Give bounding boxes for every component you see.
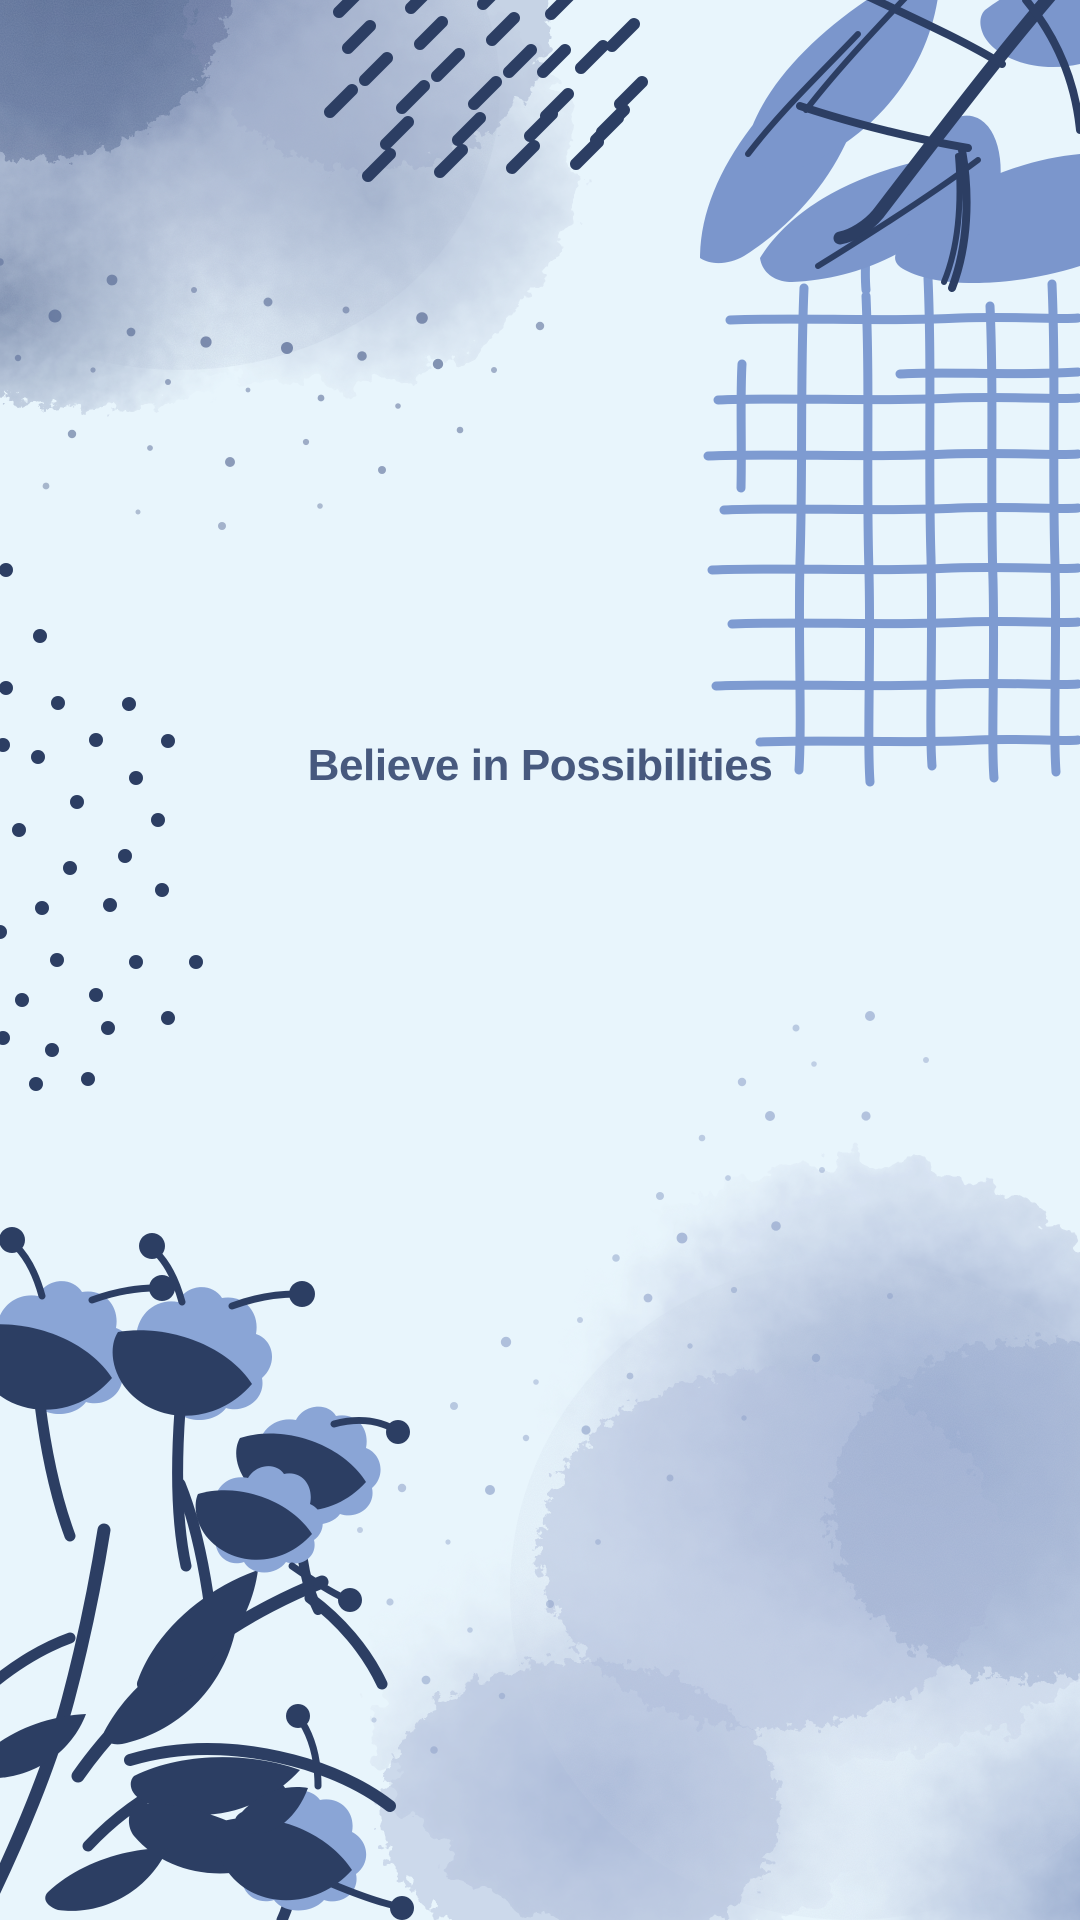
flower-stem [0, 1638, 70, 1700]
dash-icon-group [330, 0, 642, 176]
flower-stem [78, 1582, 322, 1776]
flower-icon [216, 1704, 414, 1920]
branch-stem [800, 106, 968, 148]
leaf-icon [137, 1570, 258, 1692]
leaf-icon [980, 0, 1080, 67]
leaf-icon [104, 1628, 236, 1744]
leaf-icon [131, 1757, 300, 1815]
flower-leaf-group [0, 1570, 300, 1911]
leaf-icon [0, 1714, 86, 1778]
flower-stem [130, 1749, 390, 1806]
leaf-icon [760, 150, 990, 282]
leaf-icon [700, 18, 868, 263]
branch-stem [840, 0, 1080, 238]
page-title: Believe in Possibilities [308, 742, 773, 790]
branch-stem [842, 0, 1002, 64]
flower-stem [310, 1598, 382, 1684]
leaf-icon-group [700, 0, 1080, 288]
flower-icon [0, 1227, 175, 1536]
leaf-vein [806, 0, 928, 110]
leaf-vein [944, 156, 959, 282]
headline-container: Believe in Possibilities [0, 742, 1080, 790]
leaf-branch-decoration [0, 0, 1080, 1920]
watercolor-splash-top-left [0, 0, 670, 600]
diagonal-dash-pattern [0, 0, 1080, 1920]
flower-icon [236, 1407, 410, 1610]
leaf-vein [748, 34, 858, 154]
dot-icon-group [0, 563, 203, 1091]
leaf-vein [818, 160, 978, 266]
dot-lattice-pattern [0, 0, 1080, 1920]
watercolor-speckles [357, 1011, 929, 1754]
branch-stem [1026, 0, 1080, 130]
grid-icon-group [708, 238, 1078, 782]
watercolor-splash-bottom-right [330, 990, 1080, 1920]
flower-icon [196, 1466, 362, 1612]
branch-stem [952, 150, 967, 288]
flower-stem [0, 1530, 104, 1920]
watercolor-speckles [0, 226, 544, 530]
leaf-icon [892, 106, 1015, 279]
leaf-icon [45, 1848, 168, 1911]
leaf-icon [745, 0, 940, 171]
leaf-icon [895, 154, 1080, 283]
flower-stem [88, 1772, 196, 1846]
hand-drawn-grid-pattern [0, 0, 1080, 1920]
poster-canvas: Believe in Possibilities [0, 0, 1080, 1920]
flower-stem [280, 1790, 294, 1920]
flower-stem [180, 1484, 214, 1642]
flower-icon [113, 1233, 315, 1566]
leaf-icon [129, 1804, 286, 1874]
flower-icon-group [0, 1227, 414, 1920]
floral-branch-decoration [0, 0, 1080, 1920]
leaf-icon [235, 1787, 308, 1834]
